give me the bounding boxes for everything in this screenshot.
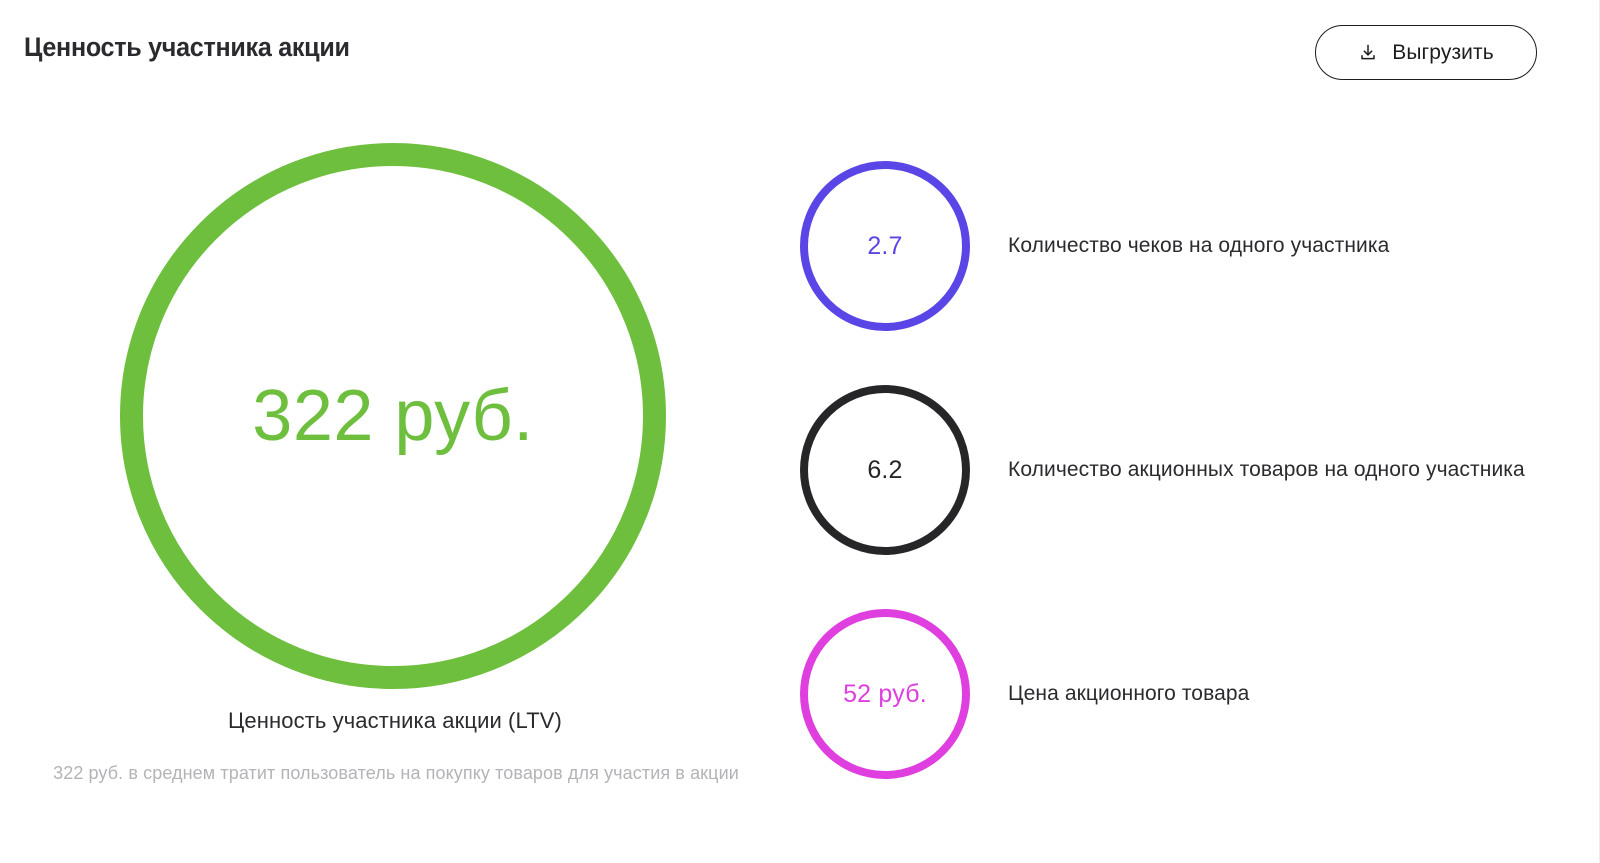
primary-metric-block: 322 руб. Ценность участника акции (LTV) …	[0, 108, 800, 863]
dashboard-content: 322 руб. Ценность участника акции (LTV) …	[0, 108, 1600, 863]
ltv-description: 322 руб. в среднем тратит пользователь н…	[28, 753, 764, 794]
download-icon	[1358, 43, 1378, 63]
metric-value: 6.2	[867, 458, 902, 483]
ltv-ring-chart: 322 руб.	[120, 143, 666, 689]
metric-label: Цена акционного товара	[1008, 674, 1249, 714]
ltv-dashboard-page: Ценность участника акции Выгрузить 322 р…	[0, 0, 1600, 863]
export-button[interactable]: Выгрузить	[1315, 25, 1537, 80]
export-button-label: Выгрузить	[1392, 41, 1494, 65]
page-title: Ценность участника акции	[24, 32, 350, 63]
metric-value: 52 руб.	[843, 682, 927, 707]
metric-row: 6.2 Количество акционных товаров на одно…	[800, 385, 1560, 555]
page-header: Ценность участника акции Выгрузить	[0, 0, 1600, 108]
secondary-metrics-list: 2.7 Количество чеков на одного участника…	[800, 108, 1600, 863]
metric-label: Количество акционных товаров на одного у…	[1008, 450, 1525, 490]
metric-ring-products: 6.2	[800, 385, 970, 555]
metric-value: 2.7	[867, 234, 902, 259]
metric-row: 2.7 Количество чеков на одного участника	[800, 161, 1560, 331]
ltv-caption: Ценность участника акции (LTV)	[0, 708, 790, 734]
metric-ring-price: 52 руб.	[800, 609, 970, 779]
metric-ring-checks: 2.7	[800, 161, 970, 331]
metric-label: Количество чеков на одного участника	[1008, 226, 1389, 266]
metric-row: 52 руб. Цена акционного товара	[800, 609, 1560, 779]
ltv-value: 322 руб.	[252, 380, 533, 452]
